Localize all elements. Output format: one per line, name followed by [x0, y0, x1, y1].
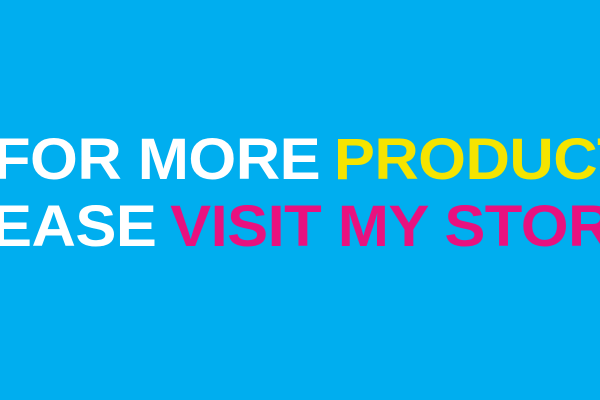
headline-line-2: EASEVISIT MY STOR	[0, 198, 600, 256]
headline-segment-visit-my-store: VISIT MY STOR	[170, 194, 600, 259]
headline-segment-for-more: FOR MORE	[0, 127, 320, 192]
headline-line-1: FOR MOREPRODUCT	[0, 131, 600, 189]
headline-block: FOR MOREPRODUCT EASEVISIT MY STOR	[0, 0, 600, 400]
headline-segment-please: EASE	[0, 194, 156, 259]
promo-banner: FOR MOREPRODUCT EASEVISIT MY STOR	[0, 0, 600, 400]
headline-segment-product: PRODUCT	[334, 127, 600, 192]
